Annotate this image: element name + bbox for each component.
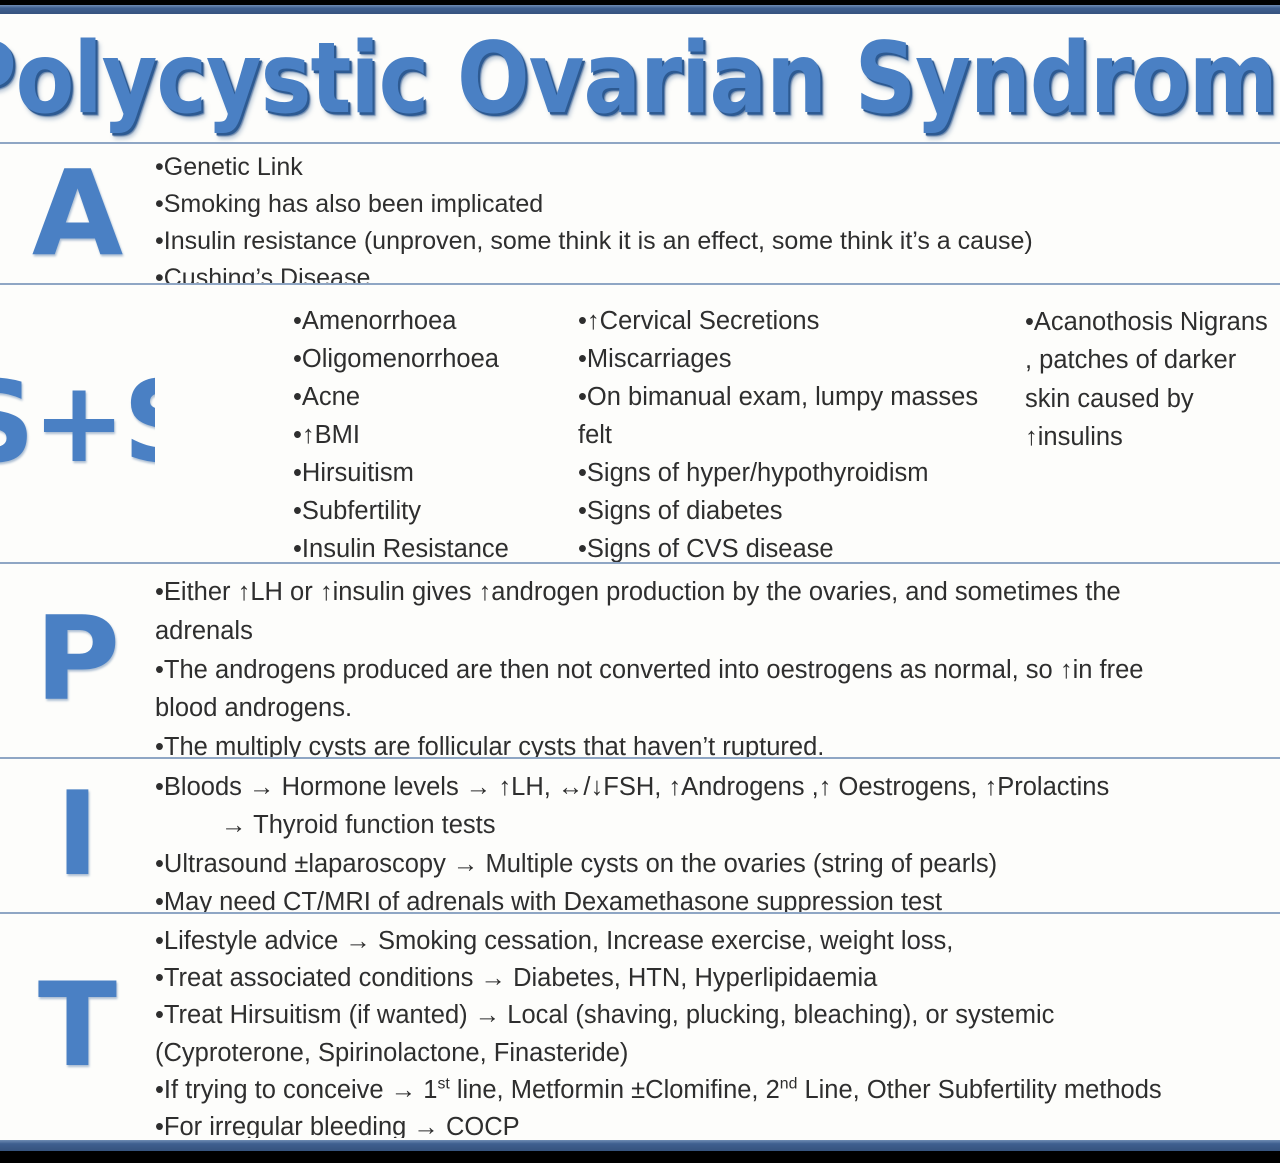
section-content-investigations: •Bloods → Hormone levels → ↑LH, ↔/↓FSH, …	[155, 759, 1280, 912]
symptom-column-1: •Amenorrhoea •Oligomenorrhoea •Acne •↑BM…	[155, 303, 578, 562]
conceive-mid: line, Metformin ±Clomifine, 2	[450, 1076, 780, 1104]
list-item: •Ultrasound ±laparoscopy → Multiple cyst…	[155, 845, 1280, 883]
section-content-signs-and-symptoms: •Amenorrhoea •Oligomenorrhoea •Acne •↑BM…	[155, 285, 1280, 562]
list-item: •Subfertility	[293, 493, 578, 531]
section-content-aetiology: •Genetic Link •Smoking has also been imp…	[155, 144, 1280, 283]
symptom-columns: •Amenorrhoea •Oligomenorrhoea •Acne •↑BM…	[155, 291, 1280, 562]
list-item: •On bimanual exam, lumpy masses felt	[578, 379, 998, 455]
symptom-column-3: •Acanothosis Nigrans , patches of darker…	[998, 303, 1280, 456]
list-item: •Acanothosis Nigrans , patches of darker…	[1025, 303, 1280, 456]
list-item: •Insulin Resistance	[293, 531, 578, 562]
list-item: •For irregular bleeding → COCP	[155, 1109, 1280, 1138]
list-item: •Oligomenorrhoea	[293, 341, 578, 379]
section-letter-cell-treatment: T	[0, 914, 155, 1138]
title-banner: Polycystic Ovarian Syndrome	[0, 14, 1280, 142]
list-item: •Smoking has also been implicated	[155, 186, 1280, 223]
list-item: •Treat associated conditions → Diabetes,…	[155, 960, 1280, 997]
list-item: •The multiply cysts are follicular cysts…	[155, 728, 1280, 757]
conceive-post: Line, Other Subfertility methods	[797, 1076, 1161, 1104]
section-letter-treatment: T	[38, 973, 117, 1080]
section-row-pathophysiology: P •Either ↑LH or ↑insulin gives ↑androge…	[0, 562, 1280, 757]
section-row-aetiology: A •Genetic Link •Smoking has also been i…	[0, 142, 1280, 283]
list-item: •↑BMI	[293, 417, 578, 455]
page-title: Polycystic Ovarian Syndrome	[0, 29, 1280, 127]
list-item: •Amenorrhoea	[293, 303, 578, 341]
top-blue-frame-bar	[0, 5, 1280, 14]
section-letter-aetiology: A	[32, 159, 123, 268]
section-row-investigations: I •Bloods → Hormone levels → ↑LH, ↔/↓FSH…	[0, 757, 1280, 912]
list-item: •Bloods → Hormone levels → ↑LH, ↔/↓FSH, …	[155, 768, 1280, 806]
list-item: •Acne	[293, 379, 578, 417]
ordinal-1st: st	[437, 1075, 449, 1092]
symptom-column-2: •↑Cervical Secretions •Miscarriages •On …	[578, 303, 998, 562]
section-letter-cell-aetiology: A	[0, 144, 155, 283]
list-item-conceive: •If trying to conceive → 1st line, Metfo…	[155, 1072, 1280, 1109]
list-item: •Genetic Link	[155, 149, 1280, 186]
section-content-pathophysiology: •Either ↑LH or ↑insulin gives ↑androgen …	[155, 564, 1280, 757]
section-letter-pathophysiology: P	[35, 607, 120, 714]
section-letter-cell-signs-and-symptoms: S+S	[0, 285, 155, 562]
list-item: •Signs of hyper/hypothyroidism	[578, 455, 998, 493]
list-item: •Miscarriages	[578, 341, 998, 379]
section-letter-investigations: I	[56, 782, 99, 889]
list-item: •Cushing’s Disease	[155, 260, 1280, 283]
section-letter-cell-investigations: I	[0, 759, 155, 912]
section-letter-signs-and-symptoms: S+S	[0, 372, 155, 475]
list-item: •Insulin resistance (unproven, some thin…	[155, 223, 1280, 260]
conceive-pre: •If trying to conceive → 1	[155, 1076, 437, 1104]
list-item-continuation: adrenals	[155, 612, 1280, 651]
section-letter-cell-pathophysiology: P	[0, 564, 155, 757]
list-item: •↑Cervical Secretions	[578, 303, 998, 341]
ordinal-2nd: nd	[780, 1075, 798, 1092]
section-content-treatment: •Lifestyle advice → Smoking cessation, I…	[155, 914, 1280, 1138]
section-row-treatment: T •Lifestyle advice → Smoking cessation,…	[0, 912, 1280, 1138]
list-item: •The androgens produced are then not con…	[155, 651, 1280, 690]
section-row-signs-and-symptoms: S+S •Amenorrhoea •Oligomenorrhoea •Acne …	[0, 283, 1280, 562]
list-item: •May need CT/MRI of adrenals with Dexame…	[155, 883, 1280, 912]
poster: Polycystic Ovarian Syndrome A •Genetic L…	[0, 0, 1280, 1163]
list-item: •Signs of diabetes	[578, 493, 998, 531]
list-item: •Hirsuitism	[293, 455, 578, 493]
content-sheet: Polycystic Ovarian Syndrome A •Genetic L…	[0, 14, 1280, 1140]
list-item-continuation: → Thyroid function tests	[155, 806, 1280, 844]
list-item-continuation: blood androgens.	[155, 689, 1280, 728]
list-item-continuation: (Cyproterone, Spirinolactone, Finasterid…	[155, 1035, 1280, 1072]
list-item: •Lifestyle advice → Smoking cessation, I…	[155, 923, 1280, 960]
list-item: •Either ↑LH or ↑insulin gives ↑androgen …	[155, 573, 1280, 612]
bottom-black-frame-bar	[0, 1151, 1280, 1163]
list-item: •Treat Hirsuitism (if wanted) → Local (s…	[155, 997, 1280, 1034]
bottom-blue-frame-bar	[0, 1140, 1280, 1151]
list-item: •Signs of CVS disease	[578, 531, 998, 562]
